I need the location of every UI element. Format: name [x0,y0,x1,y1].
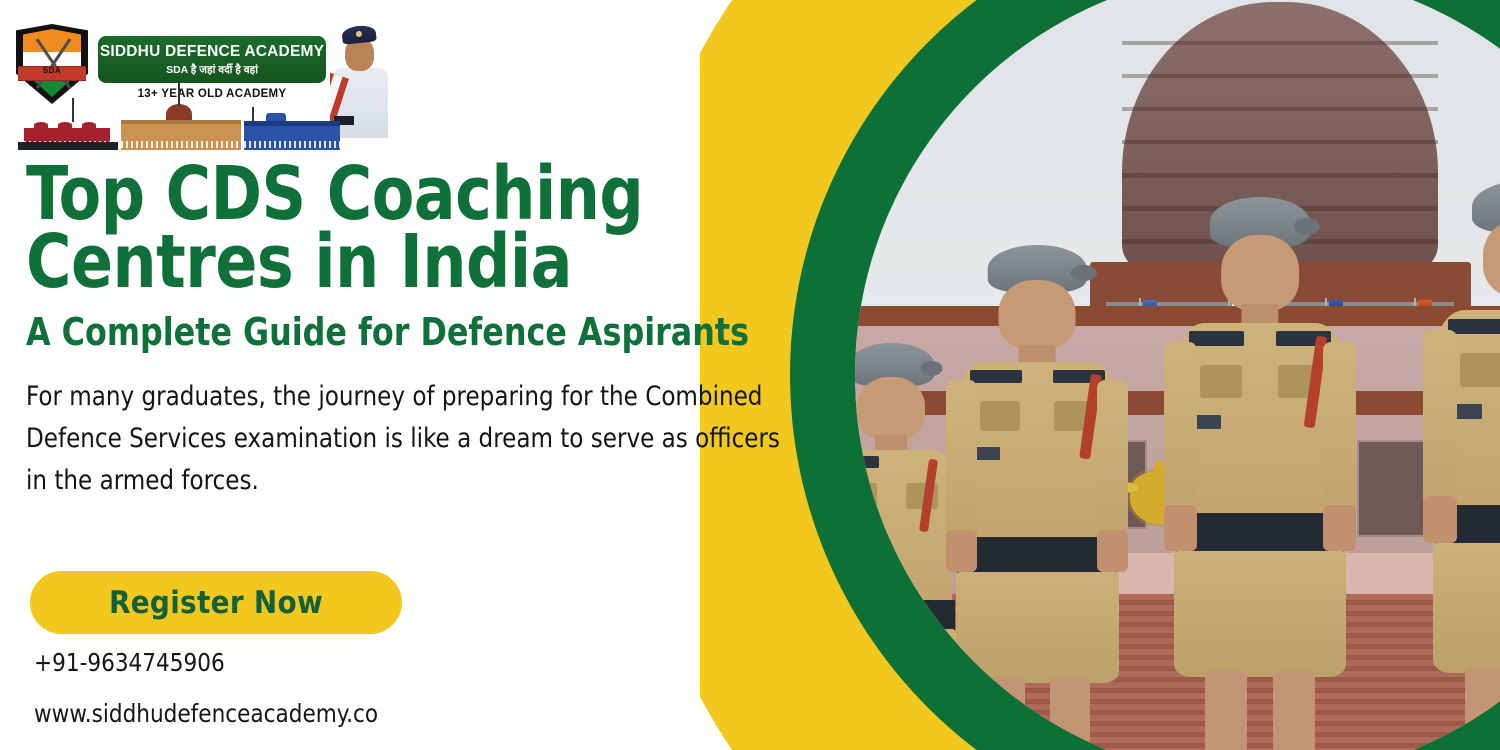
photo-cadet [1179,197,1341,750]
hero-description: For many graduates, the journey of prepa… [26,376,786,502]
academy-crest-icon: SDA [16,24,88,104]
contact-website[interactable]: www.siddhudefenceacademy.co [34,701,476,726]
headline-line-1: Top CDS Coaching [26,160,798,228]
photo-cadet [855,343,952,750]
hero-text-content: Top CDS Coaching Centres in India A Comp… [26,160,856,502]
contact-phone[interactable]: +91-9634745906 [34,650,476,675]
academy-name: SIDDHU DEFENCE ACADEMY [100,43,324,61]
poster-canvas: SDA SIDDHU DEFENCE ACADEMY SDA है जहां व… [0,0,1500,750]
hero-photo-circle [855,0,1500,750]
academy-slogan-hindi: SDA है जहां वर्दी है वहां [166,63,258,77]
register-now-label: Register Now [109,585,323,621]
headline-line-2: Centres in India [26,228,798,296]
photo-cadet [1438,181,1500,750]
crest-label: SDA [16,66,88,75]
page-subtitle: A Complete Guide for Defence Aspirants [26,310,798,354]
contact-details: +91-9634745906 www.siddhudefenceacademy.… [34,650,494,726]
academy-name-plate: SIDDHU DEFENCE ACADEMY SDA है जहां वर्दी… [98,36,326,83]
hero-photo [855,0,1500,750]
academy-logo-header: SDA SIDDHU DEFENCE ACADEMY SDA है जहां व… [8,10,398,145]
academy-buildings-strip [16,102,346,150]
academy-tagline: 13+ YEAR OLD ACADEMY [98,88,326,100]
photo-cadet [960,245,1114,750]
register-now-button[interactable]: Register Now [30,571,402,634]
page-title: Top CDS Coaching Centres in India [26,160,798,296]
